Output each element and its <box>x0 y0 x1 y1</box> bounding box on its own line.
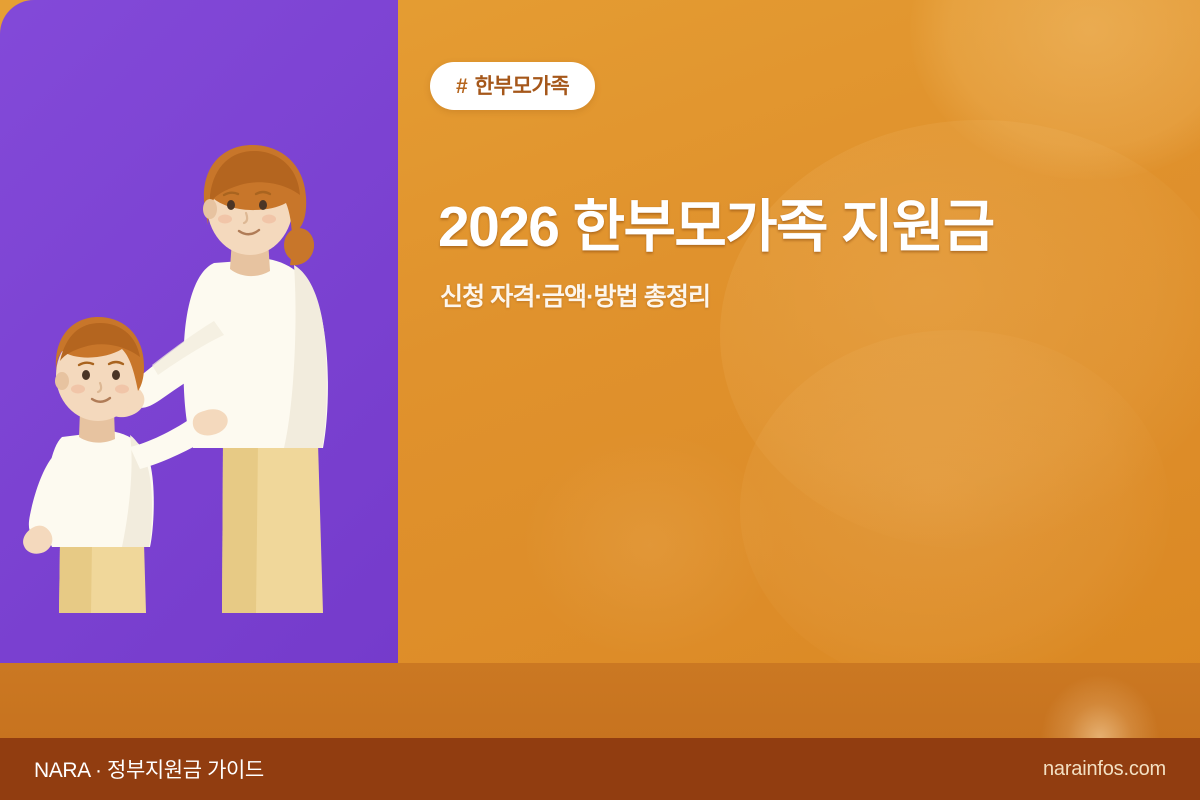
badge-label: 한부모가족 <box>475 76 570 97</box>
page-title: 2026 한부모가족 지원금 <box>438 196 1158 260</box>
thumbnail-card: # 한부모가족 2026 한부모가족 지원금 신청 자격·금액·방법 총정리 N… <box>0 0 1200 800</box>
band-glow-highlight <box>1040 674 1160 738</box>
lower-color-band <box>0 663 1200 738</box>
footer-brand: NARA · 정부지원금 가이드 <box>34 754 264 784</box>
illustration-panel <box>0 0 398 663</box>
family-illustration <box>18 143 378 663</box>
hashtag-badge[interactable]: # 한부모가족 <box>430 62 595 110</box>
footer-site-url[interactable]: narainfos.com <box>1043 758 1166 781</box>
headline-block: 2026 한부모가족 지원금 신청 자격·금액·방법 총정리 <box>438 196 1158 312</box>
footer-bar: NARA · 정부지원금 가이드 narainfos.com <box>0 738 1200 800</box>
page-subtitle: 신청 자격·금액·방법 총정리 <box>440 282 1158 312</box>
hash-icon: # <box>456 76 468 97</box>
